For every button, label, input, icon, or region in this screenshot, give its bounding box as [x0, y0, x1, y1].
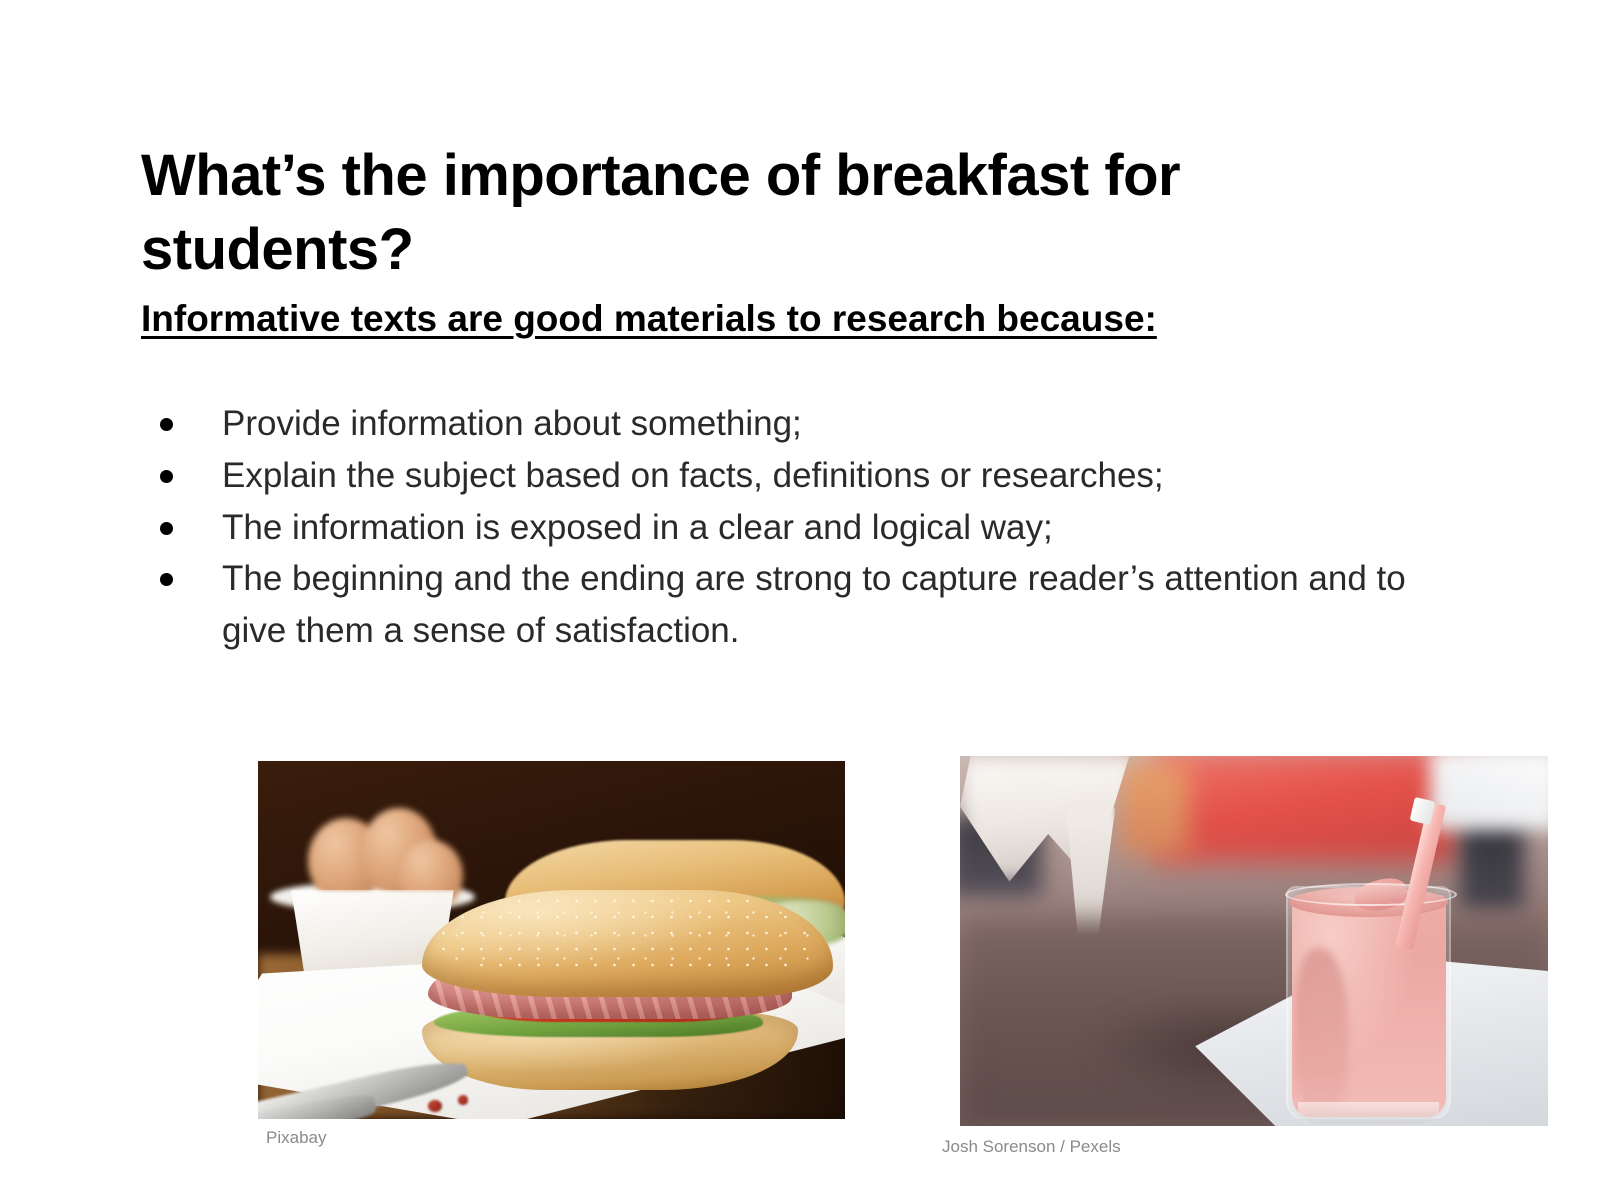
slide-canvas: What’s the importance of breakfast for s… [0, 0, 1600, 1200]
list-item: Provide information about something; [150, 398, 1450, 450]
blurred-white-shape [1430, 756, 1548, 830]
figure-strawberry-smoothie: Josh Sorenson / Pexels [940, 756, 1548, 1160]
bullet-dot-icon [160, 522, 173, 535]
bullet-dot-icon [160, 470, 173, 483]
list-item: Explain the subject based on facts, defi… [150, 450, 1450, 502]
bullet-dot-icon [160, 573, 173, 586]
smoothie-shadow [1295, 948, 1348, 1111]
list-item-label: Explain the subject based on facts, defi… [222, 456, 1164, 495]
list-item: The beginning and the ending are strong … [150, 553, 1450, 657]
list-item-label: The information is exposed in a clear an… [222, 508, 1053, 547]
blurred-orange-accent [1119, 763, 1190, 856]
figure-breakfast-sandwich: Pixabay [258, 761, 845, 1151]
list-item: The information is exposed in a clear an… [150, 502, 1450, 554]
bullet-dot-icon [160, 418, 173, 431]
photo-credit-caption: Pixabay [258, 1119, 845, 1151]
photo-credit-caption: Josh Sorenson / Pexels [940, 1126, 1548, 1160]
breakfast-sandwich-photo [258, 761, 845, 1119]
sesame-seeds [434, 893, 821, 972]
glass-rim [1285, 883, 1457, 906]
list-item-label: Provide information about something; [222, 404, 802, 443]
list-item-label: The beginning and the ending are strong … [222, 559, 1406, 650]
chili-pepper [428, 1100, 442, 1112]
strawberry-smoothie-photo [960, 756, 1548, 1126]
section-subheading: Informative texts are good materials to … [141, 297, 1461, 341]
page-title: What’s the importance of breakfast for s… [141, 139, 1421, 286]
chili-pepper [458, 1095, 469, 1104]
informative-texts-bullet-list: Provide information about something; Exp… [150, 398, 1450, 657]
glass-base [1298, 1102, 1439, 1124]
